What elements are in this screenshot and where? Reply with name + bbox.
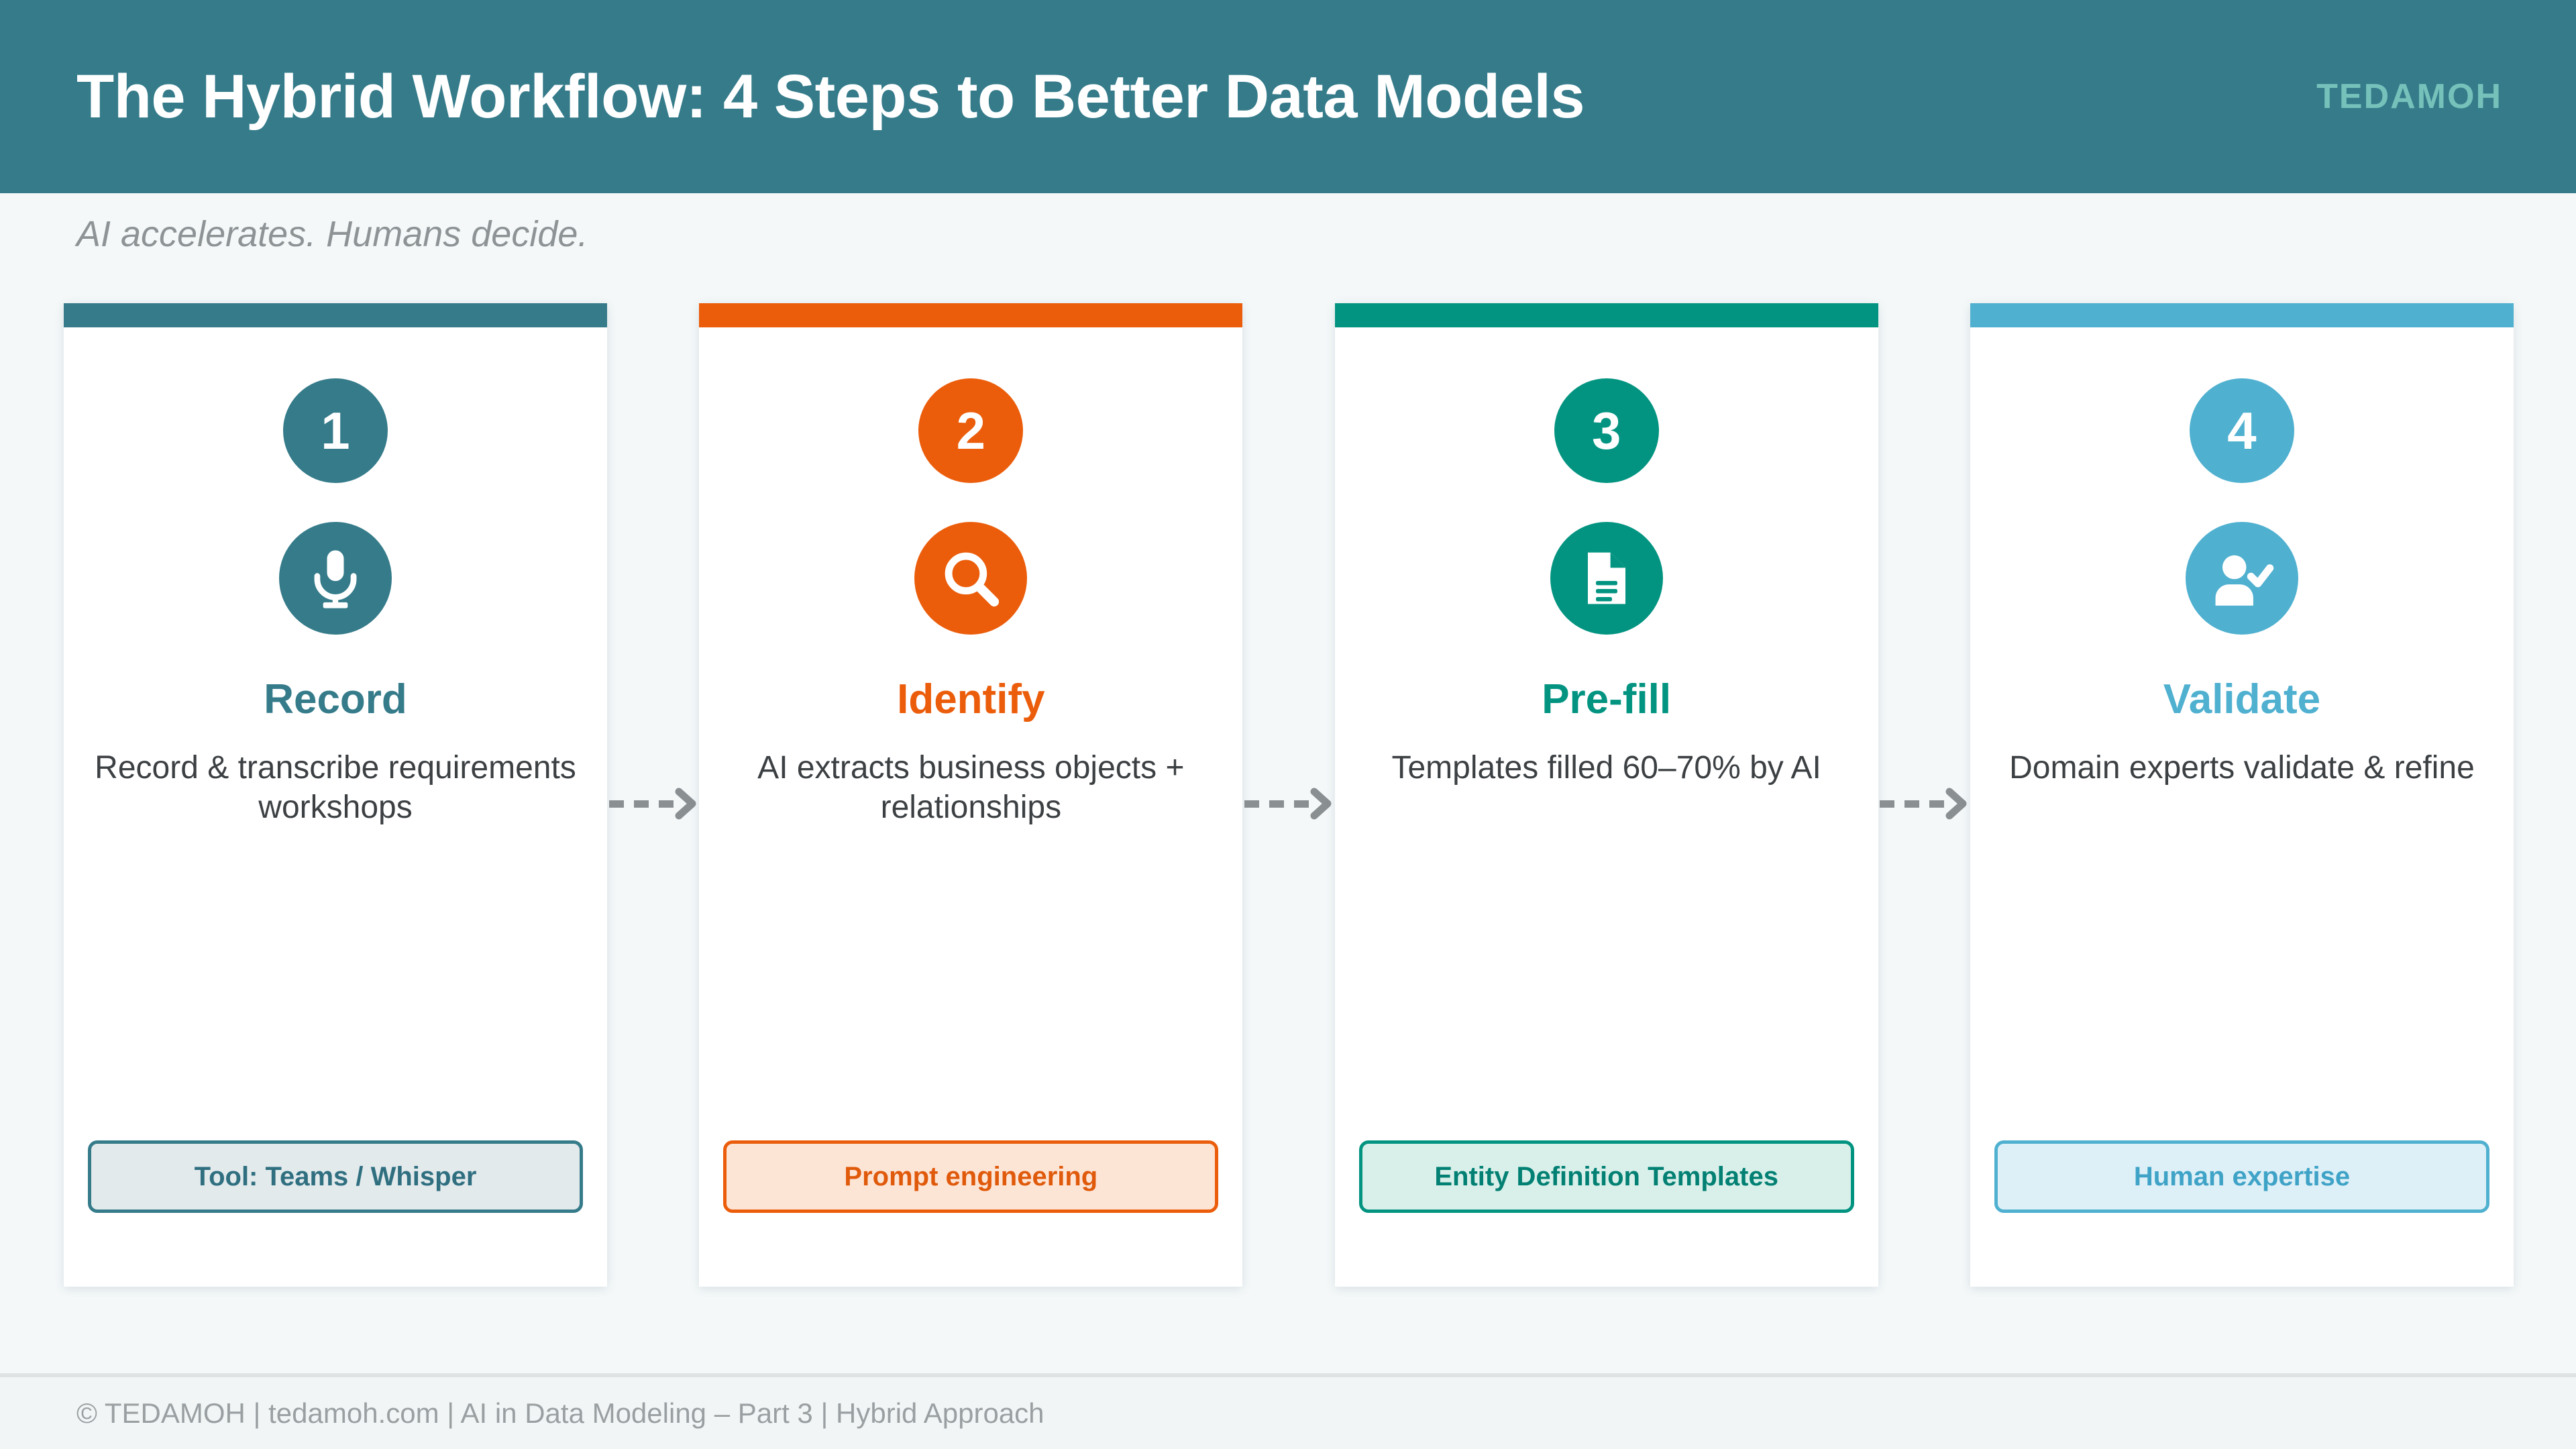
step-badge[interactable]: Human expertise: [1994, 1140, 2489, 1213]
step-card-slot-3: 3 Pre-fill Templates filled 60–70% by AI…: [1335, 303, 1878, 1289]
step-number-label: 1: [321, 405, 350, 457]
arrow-step2-to-step3: [1244, 788, 1333, 820]
step-title: Pre-fill: [1542, 679, 1671, 720]
workflow-steps-row: 1 Record Record & transcribe requirement…: [64, 303, 2514, 1289]
page-subtitle: AI accelerates. Humans decide.: [76, 213, 588, 255]
card-accent-bar: [1335, 303, 1878, 327]
step-badge[interactable]: Prompt engineering: [723, 1140, 1218, 1213]
connector-slot-1: [607, 303, 699, 1289]
step-number-badge: 4: [2190, 378, 2294, 483]
step-card-validate[interactable]: 4 Validate Domain experts validate & ref…: [1970, 303, 2514, 1287]
step-title: Validate: [2163, 679, 2320, 720]
page-title: The Hybrid Workflow: 4 Steps to Better D…: [76, 64, 1585, 129]
step-description: Templates filled 60–70% by AI: [1362, 749, 1851, 788]
step-title: Record: [264, 679, 407, 720]
document-icon: [1550, 522, 1663, 635]
user-check-icon: [2186, 522, 2298, 635]
connector-slot-3: [1878, 303, 1970, 1289]
step-description: AI extracts business objects + relations…: [726, 749, 1216, 827]
step-number-label: 2: [957, 405, 985, 457]
microphone-icon: [279, 522, 392, 635]
step-description: Record & transcribe requirements worksho…: [91, 749, 580, 827]
arrow-dash-line: [609, 800, 674, 808]
step-number-label: 4: [2227, 405, 2256, 457]
step-card-identify[interactable]: 2 Identify AI extracts business objects …: [699, 303, 1242, 1287]
step-badge[interactable]: Entity Definition Templates: [1359, 1140, 1854, 1213]
arrow-head-icon: [675, 788, 698, 820]
magnifier-icon: [914, 522, 1027, 635]
step-number-badge: 3: [1554, 378, 1659, 483]
step-card-slot-4: 4 Validate Domain experts validate & ref…: [1970, 303, 2514, 1289]
step-card-slot-1: 1 Record Record & transcribe requirement…: [64, 303, 607, 1289]
arrow-head-icon: [1945, 788, 1968, 820]
step-description: Domain experts validate & refine: [1997, 749, 2487, 788]
arrow-dash-line: [1880, 800, 1944, 808]
step-card-prefill[interactable]: 3 Pre-fill Templates filled 60–70% by AI…: [1335, 303, 1878, 1287]
arrow-head-icon: [1310, 788, 1333, 820]
arrow-dash-line: [1244, 800, 1309, 808]
brand-logo: TEDAMOH: [2316, 76, 2502, 117]
card-accent-bar: [699, 303, 1242, 327]
step-number-badge: 2: [918, 378, 1023, 483]
step-title: Identify: [897, 679, 1044, 720]
step-card-slot-2: 2 Identify AI extracts business objects …: [699, 303, 1242, 1289]
page-footer: © TEDAMOH | tedamoh.com | AI in Data Mod…: [0, 1377, 2576, 1449]
page-header: The Hybrid Workflow: 4 Steps to Better D…: [0, 0, 2576, 193]
arrow-step1-to-step2: [609, 788, 698, 820]
step-number-badge: 1: [283, 378, 388, 483]
step-card-record[interactable]: 1 Record Record & transcribe requirement…: [64, 303, 607, 1287]
arrow-step3-to-step4: [1880, 788, 1968, 820]
card-accent-bar: [1970, 303, 2514, 327]
connector-slot-2: [1242, 303, 1334, 1289]
card-accent-bar: [64, 303, 607, 327]
step-badge[interactable]: Tool: Teams / Whisper: [88, 1140, 583, 1213]
footer-text: © TEDAMOH | tedamoh.com | AI in Data Mod…: [76, 1397, 1044, 1430]
step-number-label: 3: [1592, 405, 1621, 457]
